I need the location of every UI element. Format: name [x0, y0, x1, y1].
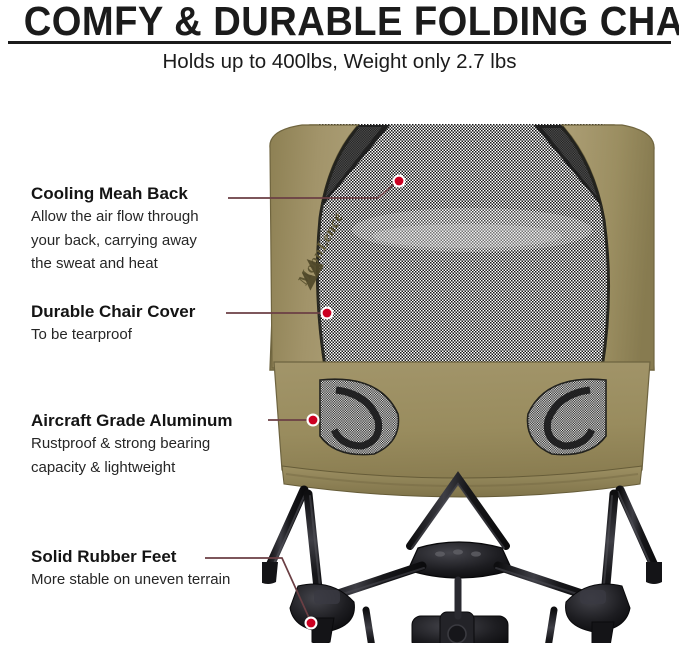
- rubber-foot-rear-right: [646, 562, 662, 584]
- infographic-page: COMFY & DURABLE FOLDING CHAIR Holds up t…: [0, 0, 679, 652]
- title-underline-rule: [8, 41, 671, 44]
- leg-rear-left: [268, 490, 304, 570]
- callout-title: Solid Rubber Feet: [31, 546, 230, 568]
- rubber-foot-front-right: [592, 622, 614, 643]
- product-image: MoonLence: [262, 118, 662, 643]
- callout-body: To be tearproof: [31, 323, 195, 347]
- callout-body: Allow the air flow through your back, ca…: [31, 205, 199, 276]
- inner-leg-left: [366, 610, 374, 643]
- callout-body: More stable on uneven terrain: [31, 568, 230, 592]
- center-hub: [408, 542, 512, 578]
- callout-title: Cooling Meah Back: [31, 183, 199, 205]
- page-title: COMFY & DURABLE FOLDING CHAIR: [24, 0, 655, 42]
- rubber-foot-rear-left: [262, 562, 278, 584]
- callout-title: Aircraft Grade Aluminum: [31, 410, 233, 432]
- callout-cooling-mesh-back: Cooling Meah Back Allow the air flow thr…: [31, 183, 199, 276]
- callout-body: Rustproof & strong bearing capacity & li…: [31, 432, 233, 479]
- inner-leg-right: [546, 610, 554, 643]
- callout-title: Durable Chair Cover: [31, 301, 195, 323]
- callout-solid-rubber-feet: Solid Rubber Feet More stable on uneven …: [31, 546, 230, 592]
- page-subtitle: Holds up to 400lbs, Weight only 2.7 lbs: [0, 48, 679, 76]
- callout-aircraft-grade-aluminum: Aircraft Grade Aluminum Rustproof & stro…: [31, 410, 233, 479]
- callout-durable-chair-cover: Durable Chair Cover To be tearproof: [31, 301, 195, 347]
- leg-rear-right: [620, 490, 656, 570]
- rubber-foot-front-left: [312, 618, 334, 643]
